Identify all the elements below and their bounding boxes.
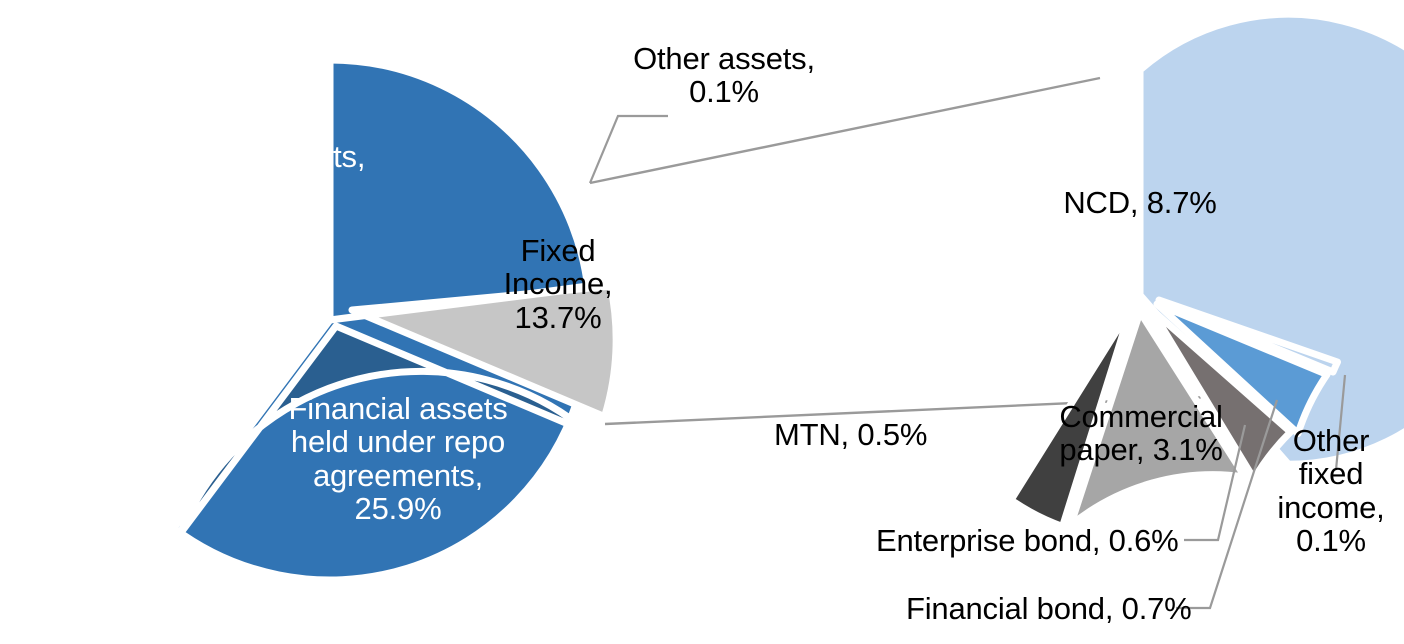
label-financial-bond: Financial bond, 0.7% — [906, 592, 1236, 625]
label-mtn: MTN, 0.5% — [774, 418, 974, 451]
label-other-fixed-income: Other fixed income, 0.1% — [1258, 424, 1404, 558]
label-fixed-income: Fixed Income, 13.7% — [478, 234, 638, 334]
label-enterprise-bond: Enterprise bond, 0.6% — [876, 524, 1216, 557]
label-bank-deposits: Bank deposits, 60.3% — [140, 140, 390, 207]
label-repo-agreements: Financial assets held under repo agreeme… — [258, 392, 538, 526]
label-commercial-paper: Commercial paper, 3.1% — [1032, 400, 1250, 467]
label-ncd: NCD, 8.7% — [1040, 186, 1240, 219]
pie-of-pie-chart: Bank deposits, 60.3% Financial assets he… — [0, 0, 1404, 644]
label-other-assets: Other assets, 0.1% — [610, 42, 838, 109]
leader-other-assets — [590, 116, 668, 183]
